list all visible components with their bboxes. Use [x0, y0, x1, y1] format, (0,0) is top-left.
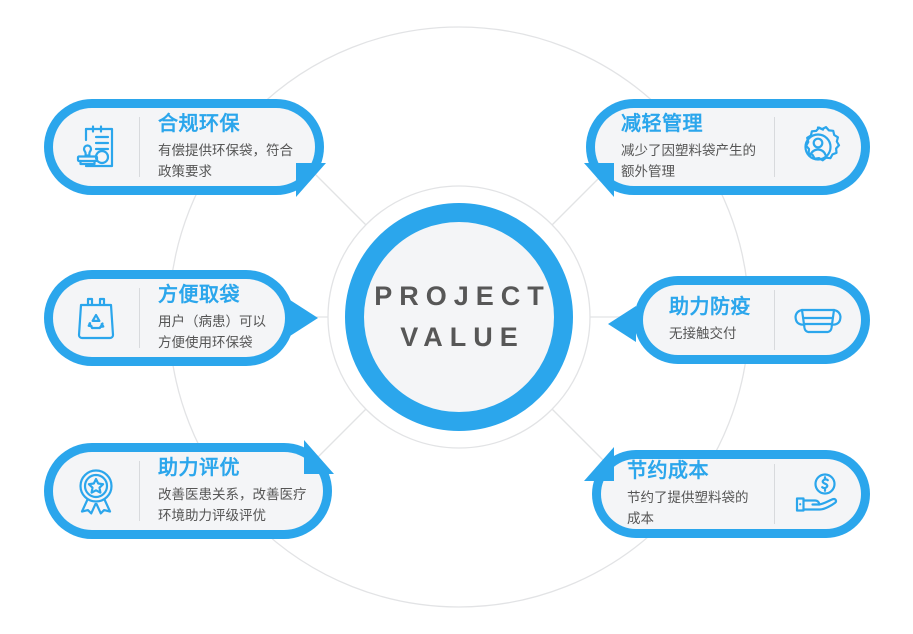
value-card-cost[interactable]: 节约成本 节约了提供塑料袋的成本 [592, 450, 870, 538]
card-description: 用户（病患）可以方便使用环保袋 [158, 312, 271, 354]
value-card-management[interactable]: 减轻管理 减少了因塑料袋产生的额外管理 [586, 99, 870, 195]
value-card-convenience[interactable]: 方便取袋 用户（病患）可以方便使用环保袋 [44, 270, 294, 366]
medal-star-icon [53, 467, 139, 515]
card-pointer-rating [304, 440, 334, 474]
card-title: 助力防疫 [669, 295, 760, 320]
card-pointer-management [584, 163, 614, 197]
card-pointer-compliance [296, 163, 326, 197]
card-pointer-cost [584, 447, 614, 481]
card-description: 改善医患关系，改善医疗环境助力评级评优 [158, 485, 309, 527]
value-card-compliance[interactable]: 合规环保 有偿提供环保袋，符合政策要求 [44, 99, 324, 195]
value-card-epidemic[interactable]: 助力防疫 无接触交付 [634, 276, 870, 364]
card-description: 减少了因塑料袋产生的额外管理 [621, 141, 760, 183]
card-title: 方便取袋 [158, 283, 271, 308]
face-mask-icon [775, 302, 861, 338]
infographic-canvas: PROJECT VALUE [0, 0, 913, 634]
card-description: 无接触交付 [669, 324, 760, 345]
recycle-bag-icon [53, 295, 139, 341]
card-pointer-convenience [290, 300, 318, 336]
center-hub: PROJECT VALUE [345, 203, 573, 431]
document-stamp-icon [53, 124, 139, 170]
card-title: 减轻管理 [621, 112, 760, 137]
card-title: 合规环保 [158, 112, 301, 137]
card-title: 节约成本 [627, 459, 760, 484]
hub-title-line1: PROJECT [367, 276, 551, 317]
card-description: 有偿提供环保袋，符合政策要求 [158, 141, 301, 183]
card-description: 节约了提供塑料袋的成本 [627, 488, 760, 529]
card-title: 助力评优 [158, 456, 309, 481]
gear-person-icon [775, 124, 861, 170]
hand-money-icon [775, 472, 861, 516]
card-pointer-epidemic [608, 306, 636, 342]
hub-title-line2: VALUE [393, 317, 525, 358]
value-card-rating[interactable]: 助力评优 改善医患关系，改善医疗环境助力评级评优 [44, 443, 332, 539]
